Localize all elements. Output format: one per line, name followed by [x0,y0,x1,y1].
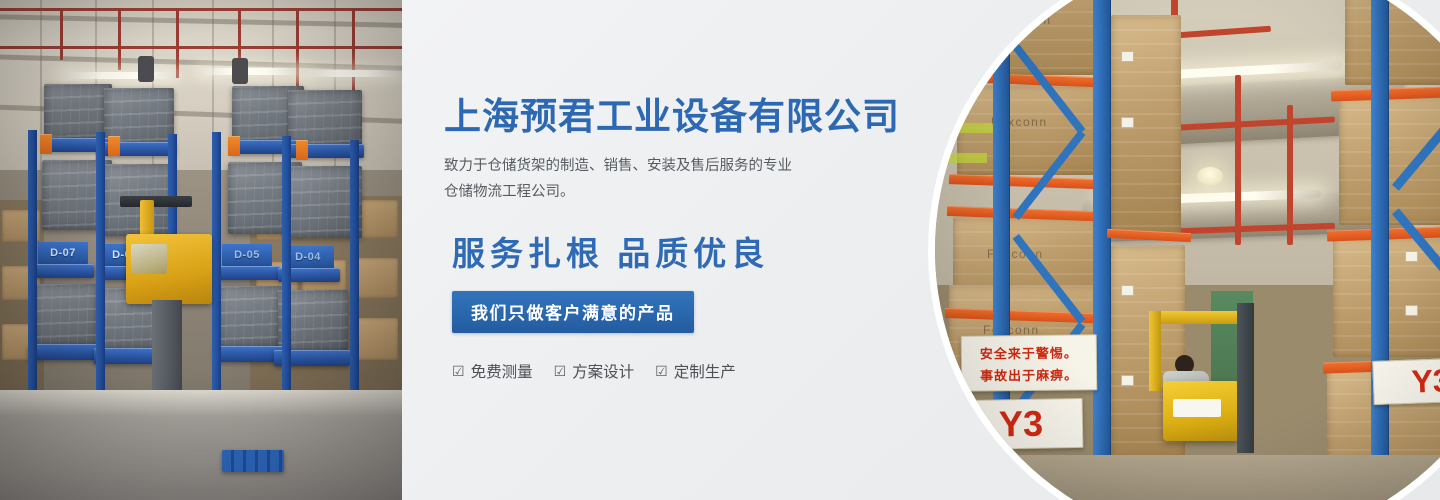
left-photo-scene: D-07 D-06 D-05 D-04 [0,0,402,500]
pallet-beam [218,266,280,280]
palletised-stack [34,284,100,346]
sprinkler-drop [352,8,355,94]
right-photo-scene: Foxconn Foxconn Foxconn Foxconn [935,0,1440,500]
promise-badge[interactable]: 我们只做客户满意的产品 [452,291,694,333]
right-warehouse-photo: Foxconn Foxconn Foxconn Foxconn [935,0,1440,500]
rack-label: D-05 [222,244,272,266]
beam-connector [228,136,240,156]
forklift-mast [1237,303,1254,453]
check-icon: ☑ [655,364,668,378]
carton-label [1121,117,1134,128]
forklift-boom [120,196,192,207]
description-line-2: 仓储物流工程公司。 [444,180,862,205]
carton-label [1121,51,1134,62]
slogan: 服务扎根 品质优良 [452,227,914,275]
check-icon: ☑ [554,364,567,378]
aisle-sign-text: Y3 [1411,364,1440,397]
feature-list: ☑ 免费测量 ☑ 方案设计 ☑ 定制生产 [452,360,914,382]
wrapped-pallet [1339,95,1440,225]
rack-label: D-07 [38,242,88,264]
beam-connector [296,140,308,160]
feature-label: 免费测量 [471,360,533,382]
ceiling-light [304,70,400,77]
sprinkler-drop [296,8,299,88]
feature-label: 定制生产 [674,360,736,382]
rack-upright [1371,0,1389,500]
shelf-label [941,123,993,133]
warehouse-floor [935,455,1440,500]
forklift-panel [1173,399,1221,417]
safety-sign-line-1: 安全来于警惕。 [980,342,1078,362]
sprinkler-drop [1235,75,1241,245]
shelf-label [941,153,987,163]
aisle-sign-y3-right: Y3 [1372,357,1440,405]
warehouse-floor [0,390,402,500]
company-title: 上海预君工业设备有限公司 [444,96,914,137]
aisle-sign-y3: Y3 [959,398,1084,450]
left-warehouse-photo: D-07 D-06 D-05 D-04 [0,0,402,500]
carton-label [1405,251,1418,262]
forklift-post [1149,311,1161,391]
carton-label [1121,285,1134,296]
safety-sign-line-2: 事故出于麻痹。 [980,364,1078,384]
carton-label [1121,375,1134,386]
ceiling-light [196,68,306,75]
rack-upright [993,0,1010,465]
feature-item-free-measure: ☑ 免费测量 [452,360,533,382]
description-line-1: 致力于仓储货架的制造、销售、安装及售后服务的专业 [444,154,862,179]
hero-banner: D-07 D-06 D-05 D-04 [0,0,1440,500]
company-description: 致力于仓储货架的制造、销售、安装及售后服务的专业 仓储物流工程公司。 [444,154,862,205]
feature-item-plan-design: ☑ 方案设计 [554,360,635,382]
high-bay-lamp [1197,167,1223,185]
ceiling-fixture [232,58,248,84]
wrapped-pallet [1345,0,1440,85]
palletised-stack [218,286,286,348]
aisle-sign-text: Y3 [999,406,1044,443]
ceiling-light [62,72,178,79]
pallet-beam [28,344,102,360]
sprinkler-drop [176,8,179,78]
feature-item-custom-production: ☑ 定制生产 [655,360,736,382]
blue-pallet [222,450,284,472]
wrapped-pallet [961,0,1111,75]
feature-label: 方案设计 [572,360,634,382]
right-photo-circle-frame: Foxconn Foxconn Foxconn Foxconn [928,0,1440,500]
carton-label [1405,305,1418,316]
hero-copy: 上海预君工业设备有限公司 致力于仓储货架的制造、销售、安装及售后服务的专业 仓储… [444,96,914,382]
sprinkler-drop [60,8,63,60]
beam-connector [108,136,120,156]
check-icon: ☑ [452,364,465,378]
forklift-cab-glass [131,244,167,274]
ceiling-fixture [138,56,154,82]
forklift-overhead-guard [1149,311,1243,324]
pallet-beam [34,264,94,278]
beam-connector [40,134,52,154]
sprinkler-drop [1287,105,1293,245]
sprinkler-drop [118,8,121,70]
safety-slogan-sign: 安全来于警惕。 事故出于麻痹。 [961,334,1098,391]
